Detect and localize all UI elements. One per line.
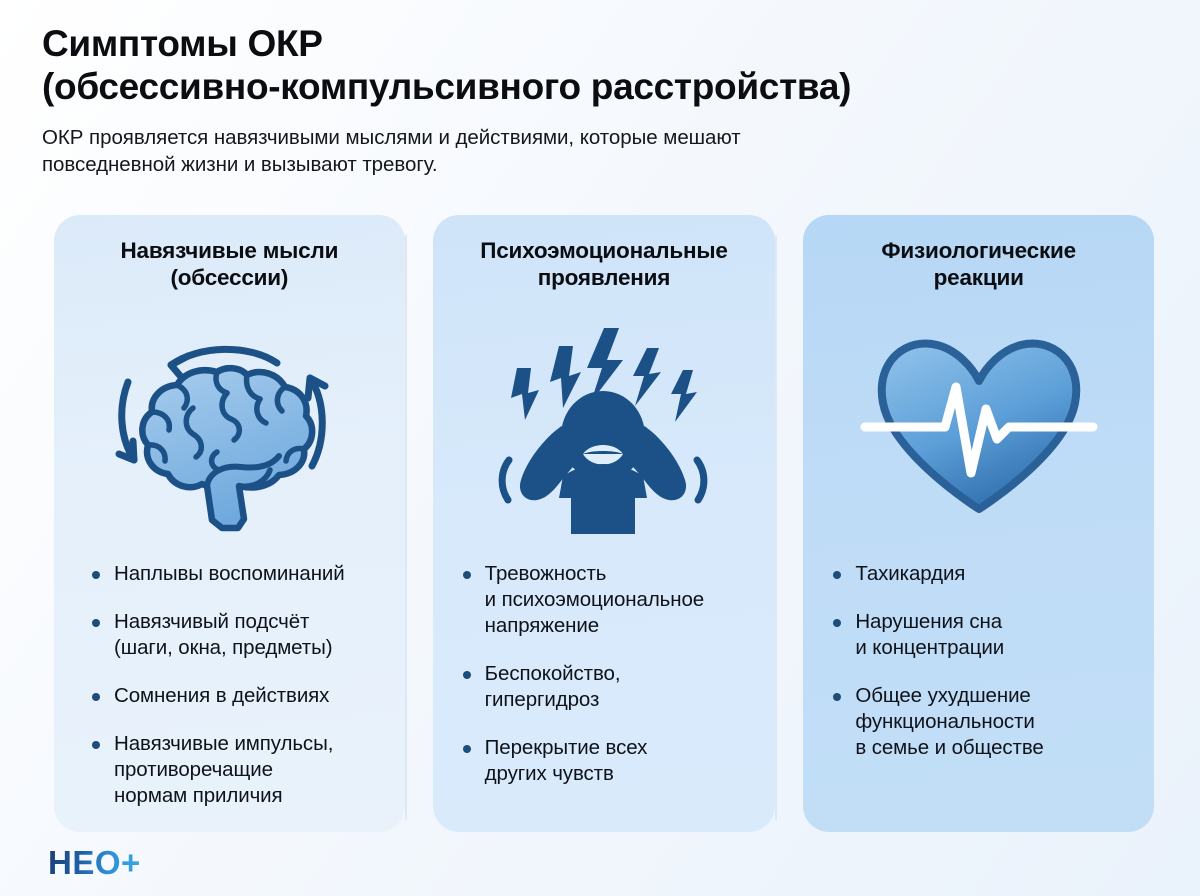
bullet-item: Общее ухудшение функциональности в семье… bbox=[833, 683, 1130, 761]
infographic-page: Симптомы ОКР (обсессивно-компульсивного … bbox=[0, 0, 1200, 896]
card-wrapper-1: Навязчивые мысли (обсессии) bbox=[48, 215, 419, 832]
heart-pulse-icon bbox=[859, 327, 1099, 527]
card-bullet-list: Тревожность и психоэмоциональное напряже… bbox=[453, 561, 756, 814]
bullet-item: Тахикардия bbox=[833, 561, 1130, 587]
symptom-cards-row: Навязчивые мысли (обсессии) bbox=[48, 215, 1160, 832]
bullet-item: Беспокойство, гипергидроз bbox=[463, 661, 752, 713]
bullet-item: Сомнения в действиях bbox=[92, 683, 381, 709]
stressed-person-icon bbox=[487, 320, 722, 535]
bullet-item: Навязчивые импульсы, противоречащие норм… bbox=[92, 731, 381, 809]
card-icon-area bbox=[823, 293, 1134, 561]
bullet-item: Навязчивый подсчёт (шаги, окна, предметы… bbox=[92, 609, 381, 661]
bullet-item: Тревожность и психоэмоциональное напряже… bbox=[463, 561, 752, 639]
card-title: Психоэмоциональные проявления bbox=[480, 237, 728, 293]
page-title: Симптомы ОКР (обсессивно-компульсивного … bbox=[42, 22, 1162, 109]
card-title: Физиологические реакции bbox=[881, 237, 1076, 293]
bullet-item: Перекрытие всех других чувств bbox=[463, 735, 752, 787]
brain-loop-icon bbox=[114, 320, 344, 535]
card-title: Навязчивые мысли (обсессии) bbox=[120, 237, 338, 293]
bullet-item: Нарушения сна и концентрации bbox=[833, 609, 1130, 661]
symptom-card-obsessions: Навязчивые мысли (обсессии) bbox=[54, 215, 405, 832]
brand-logo: НЕО+ bbox=[48, 846, 141, 879]
card-divider bbox=[405, 235, 407, 820]
page-subtitle: ОКР проявляется навязчивыми мыслями и де… bbox=[42, 124, 1072, 178]
card-wrapper-2: Психоэмоциональные проявления bbox=[419, 215, 790, 832]
card-icon-area bbox=[74, 293, 385, 561]
card-wrapper-3: Физиологические реакции bbox=[789, 215, 1160, 832]
card-icon-area bbox=[453, 293, 756, 561]
card-bullet-list: Наплывы воспоминаний Навязчивый подсчёт … bbox=[74, 561, 385, 831]
symptom-card-physiological: Физиологические реакции bbox=[803, 215, 1154, 832]
header: Симптомы ОКР (обсессивно-компульсивного … bbox=[42, 22, 1162, 178]
card-bullet-list: Тахикардия Нарушения сна и концентрации … bbox=[823, 561, 1134, 814]
symptom-card-psychoemotional: Психоэмоциональные проявления bbox=[433, 215, 776, 832]
brand-logo-text: НЕО+ bbox=[48, 846, 141, 879]
bullet-item: Наплывы воспоминаний bbox=[92, 561, 381, 587]
